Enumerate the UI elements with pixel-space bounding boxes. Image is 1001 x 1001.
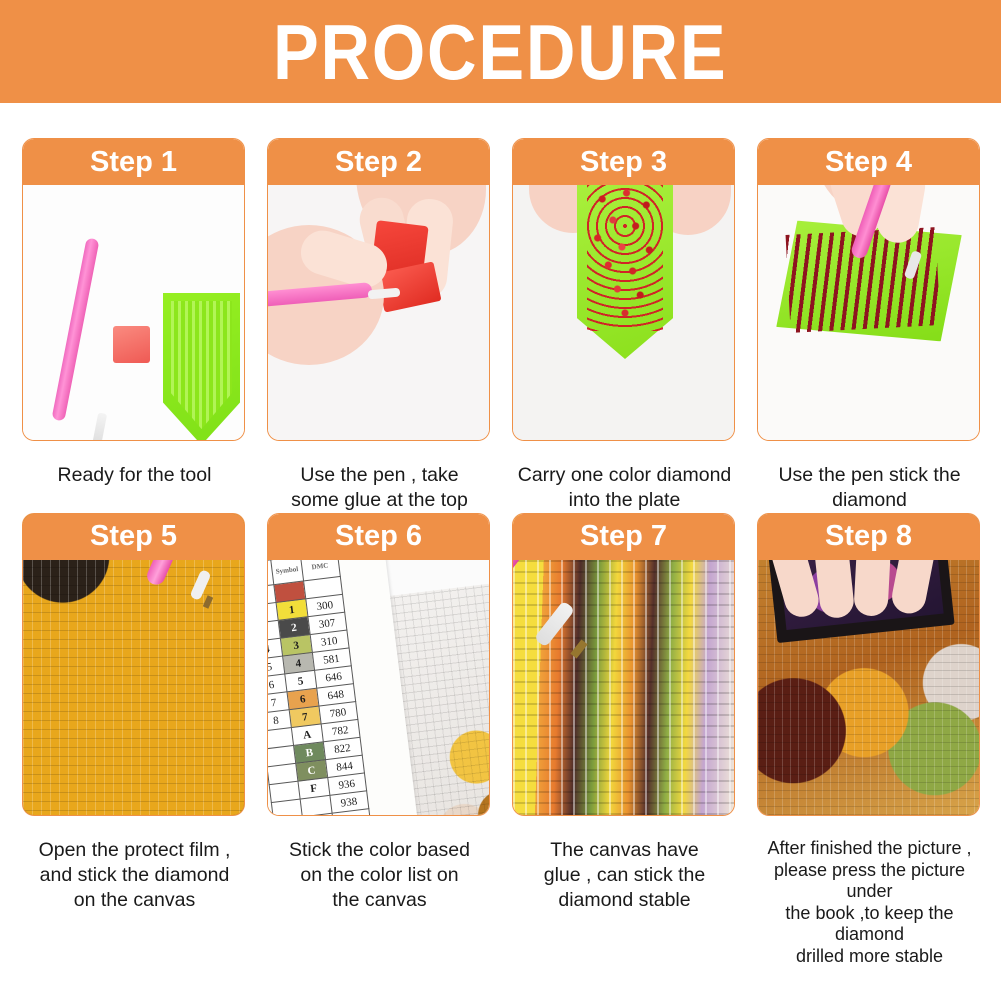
cell-serial [271, 799, 302, 816]
step-card-7[interactable]: Step 7 [512, 513, 735, 816]
step-7-header: Step 7 [513, 514, 734, 560]
step-2-caption: Use the pen , takesome glue at the top [267, 463, 492, 513]
step-2-header: Step 2 [268, 139, 489, 185]
step-cell-2: Step 2 Use the pen , takesome glue at th… [267, 138, 492, 513]
step-5-label: Step 5 [90, 522, 177, 551]
step-cell-4: Step 4 Use the pen stick thediamond [757, 138, 982, 513]
step-cell-6: Serial Symbol DMC 1 21300 32307 43310 54… [267, 513, 492, 968]
step-5-caption: Open the protect film ,and stick the dia… [22, 838, 247, 913]
step-cell-5: Step 5 Open the protect film ,and stick … [22, 513, 247, 968]
step-card-3[interactable]: Step 3 [512, 138, 735, 441]
step-6-header: Step 6 [268, 514, 489, 560]
step-card-8[interactable]: Step 8 [757, 513, 980, 816]
step-1-header: Step 1 [23, 139, 244, 185]
page-banner: PROCEDURE [0, 0, 1001, 103]
step-4-header: Step 4 [758, 139, 979, 185]
step-6-photo: Serial Symbol DMC 1 21300 32307 43310 54… [268, 560, 489, 816]
step-7-caption: The canvas haveglue , can stick thediamo… [512, 838, 737, 913]
step-5-header: Step 5 [23, 514, 244, 560]
step-8-caption: After finished the picture ,please press… [757, 838, 982, 968]
step-card-2[interactable]: Step 2 [267, 138, 490, 441]
step-2-label: Step 2 [335, 148, 422, 177]
step-7-label: Step 7 [580, 522, 667, 551]
step-card-5[interactable]: Step 5 [22, 513, 245, 816]
step-cell-7: Step 7 The canvas haveglue , can stick t… [512, 513, 737, 968]
step-6-label: Step 6 [335, 522, 422, 551]
step-card-6[interactable]: Serial Symbol DMC 1 21300 32307 43310 54… [267, 513, 490, 816]
step-8-header: Step 8 [758, 514, 979, 560]
step-6-caption: Stick the color basedon the color list o… [267, 838, 492, 913]
step-4-caption: Use the pen stick thediamond [757, 463, 982, 513]
page-title: PROCEDURE [273, 13, 727, 91]
steps-grid: Step 1 Ready for the tool Step 2 Use the… [0, 103, 1001, 967]
step-3-caption: Carry one color diamondinto the plate [512, 463, 737, 513]
diamond-pen-icon [51, 237, 99, 421]
step-cell-1: Step 1 Ready for the tool [22, 138, 247, 513]
step-3-header: Step 3 [513, 139, 734, 185]
step-1-label: Step 1 [90, 148, 177, 177]
pen-tip-icon [92, 412, 107, 441]
step-cell-8: Step 8 After finished the picture ,pleas… [757, 513, 982, 968]
step-1-photo [23, 185, 244, 441]
step-1-caption: Ready for the tool [22, 463, 247, 488]
step-card-1[interactable]: Step 1 [22, 138, 245, 441]
step-8-label: Step 8 [825, 522, 912, 551]
step-4-label: Step 4 [825, 148, 912, 177]
glue-square-icon [113, 326, 150, 363]
red-diamonds-icon [587, 181, 663, 331]
step-3-label: Step 3 [580, 148, 667, 177]
step-cell-3: Step 3 Carry one color diamondinto the p… [512, 138, 737, 513]
step-card-4[interactable]: Step 4 [757, 138, 980, 441]
